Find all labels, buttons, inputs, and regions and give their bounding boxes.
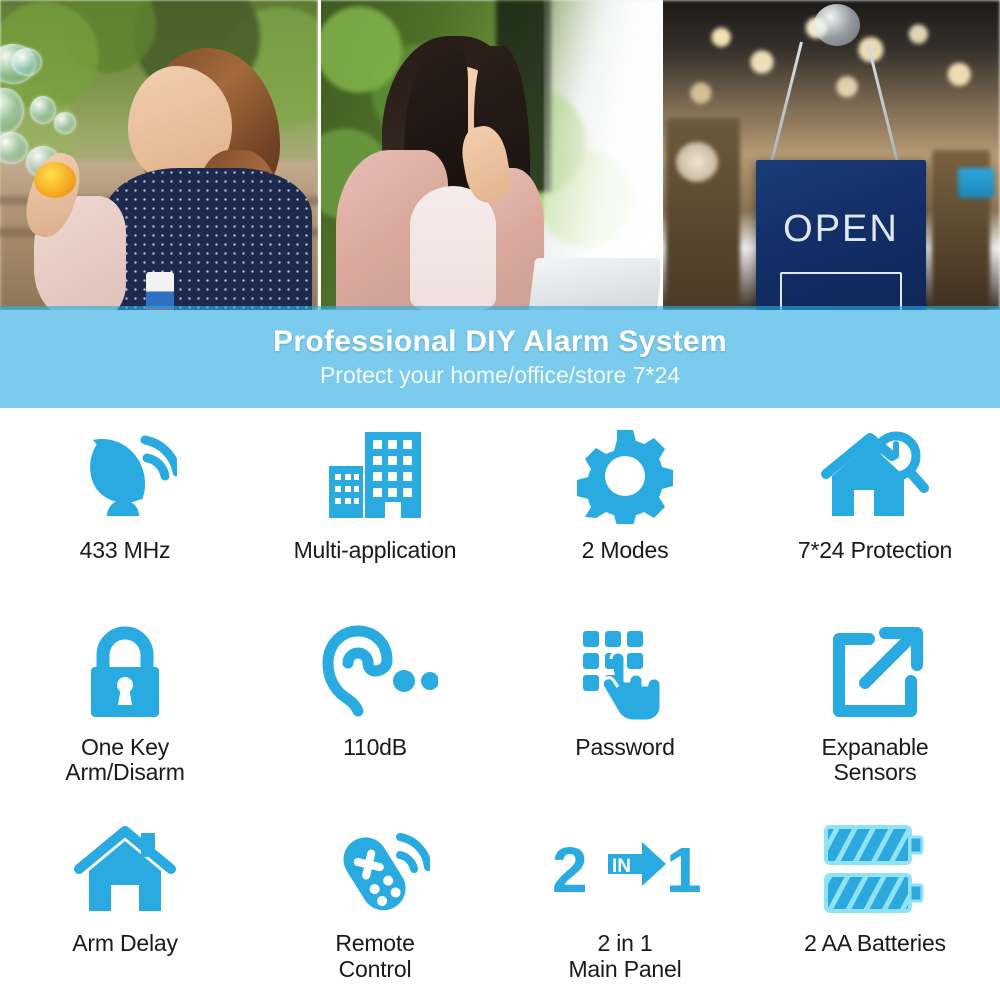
buildings-icon	[323, 424, 427, 528]
feature-label: 433 MHz	[80, 538, 171, 564]
visa-card-graphic	[780, 272, 902, 310]
two-in-one-icon: 2 IN 1	[550, 817, 700, 921]
feature-item-one-key-arm-disarm: One KeyArm/Disarm	[0, 607, 250, 804]
bubble	[12, 48, 42, 76]
ear-sound-icon	[312, 621, 438, 725]
feature-label: Arm Delay	[72, 931, 178, 957]
svg-text:2: 2	[552, 834, 588, 906]
bubble-bottle	[146, 272, 174, 310]
feature-item-433-mhz: 433 MHz	[0, 410, 250, 607]
bubble	[30, 96, 56, 124]
woman-top	[410, 186, 496, 310]
feature-item-expanable-sensors: ExpanableSensors	[750, 607, 1000, 804]
feature-item-arm-delay: Arm Delay	[0, 803, 250, 1000]
feature-item-2-modes: 2 Modes	[500, 410, 750, 607]
padlock-icon	[81, 621, 169, 725]
feature-label: Multi-application	[294, 538, 457, 564]
satellite-dish-icon	[73, 424, 177, 528]
feature-label: 7*24 Protection	[798, 538, 952, 564]
house-magnifier-icon	[820, 424, 930, 528]
feature-label: 2 in 1Main Panel	[568, 931, 681, 983]
suction-cup	[814, 4, 860, 46]
feature-label: 2 AA Batteries	[804, 931, 946, 957]
open-sign-text: OPEN	[756, 208, 926, 251]
photo-divider	[318, 0, 321, 310]
feature-item-110db: 110dB	[250, 607, 500, 804]
laptop	[529, 258, 660, 310]
svg-text:1: 1	[666, 834, 700, 906]
photo-divider	[660, 0, 663, 310]
hero-photo-strip: OPEN Professional DIY Alarm System Prote…	[0, 0, 1000, 410]
keypad-hand-icon	[573, 621, 677, 725]
feature-item-password: Password	[500, 607, 750, 804]
hero-banner: Professional DIY Alarm System Protect yo…	[0, 306, 1000, 408]
photo-woman-phone	[318, 0, 660, 310]
house-icon	[73, 817, 177, 921]
bubble	[54, 112, 76, 134]
bubble-wand	[34, 162, 76, 198]
feature-label: ExpanableSensors	[822, 735, 929, 787]
shop-screen	[958, 168, 994, 198]
feature-item-2-in-1-main-panel: 2 IN 1 2 in 1Main Panel	[500, 803, 750, 1000]
feature-item-2-aa-batteries: 2 AA Batteries	[750, 803, 1000, 1000]
gear-icon	[575, 424, 675, 528]
girl-vest	[104, 168, 312, 310]
batteries-icon	[820, 817, 930, 921]
feature-label: RemoteControl	[335, 931, 414, 983]
feature-item-remote-control: RemoteControl	[250, 803, 500, 1000]
feature-label: Password	[575, 735, 674, 761]
product-feature-page: OPEN Professional DIY Alarm System Prote…	[0, 0, 1000, 1000]
feature-label: 110dB	[343, 735, 407, 761]
remote-control-icon	[320, 817, 430, 921]
feature-item-724-protection: 7*24 Protection	[750, 410, 1000, 607]
expand-arrow-icon	[825, 621, 925, 725]
svg-text:IN: IN	[612, 856, 631, 877]
shop-clock	[676, 142, 718, 182]
open-sign: OPEN	[756, 160, 926, 310]
feature-grid: 433 MHz	[0, 410, 1000, 1000]
feature-label: One KeyArm/Disarm	[65, 735, 184, 787]
photo-girl-bubbles	[0, 0, 318, 310]
photo-shop-open-sign: OPEN	[660, 0, 1000, 310]
feature-label: 2 Modes	[582, 538, 669, 564]
banner-title: Professional DIY Alarm System	[273, 325, 727, 358]
banner-subtitle: Protect your home/office/store 7*24	[320, 363, 680, 388]
feature-item-multi-application: Multi-application	[250, 410, 500, 607]
